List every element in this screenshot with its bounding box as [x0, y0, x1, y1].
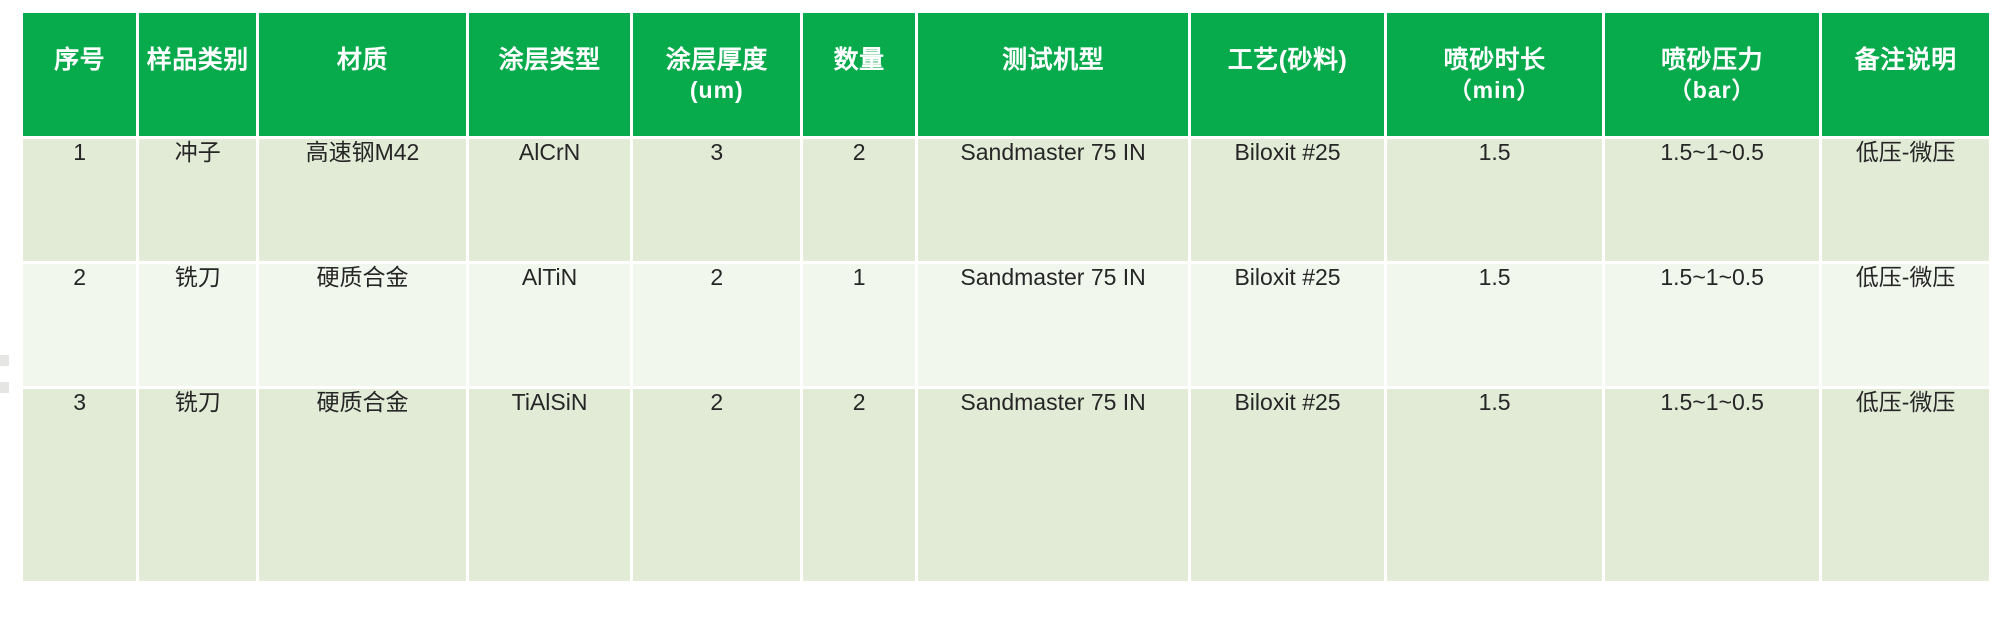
- column-header-blast-pressure[interactable]: 喷砂压力 （bar）: [1605, 13, 1819, 136]
- cell-coating-type: AlTiN: [469, 264, 631, 386]
- column-header-material-label: 材质: [337, 46, 388, 74]
- cell-coating-thick: 2: [633, 389, 800, 581]
- cell-remark: 低压-微压: [1822, 264, 1989, 386]
- column-header-blast-pressure-label: 喷砂压力: [1661, 46, 1763, 74]
- column-header-remark-label: 备注说明: [1855, 46, 1957, 74]
- cell-process-media: Biloxit #25: [1191, 139, 1384, 261]
- cell-blast-time: 1.5: [1387, 389, 1602, 581]
- column-header-blast-time-label: 喷砂时长: [1444, 46, 1546, 74]
- cell-coating-thick: 3: [633, 139, 800, 261]
- cell-quantity: 2: [803, 389, 915, 581]
- cell-test-machine: Sandmaster 75 IN: [918, 139, 1188, 261]
- column-header-sample-type[interactable]: 样品类别: [139, 13, 256, 136]
- column-header-seq-label: 序号: [54, 46, 105, 74]
- edge-artifact-mark-2: [0, 382, 9, 393]
- column-header-sample-type-label: 样品类别: [147, 46, 249, 74]
- cell-test-machine: Sandmaster 75 IN: [918, 389, 1188, 581]
- column-header-blast-pressure-unit: （bar）: [1605, 76, 1819, 105]
- cell-blast-pressure: 1.5~1~0.5: [1605, 139, 1819, 261]
- cell-seq: 3: [23, 389, 136, 581]
- column-header-coating-thickness[interactable]: 涂层厚度 (um): [633, 13, 800, 136]
- column-header-process-media[interactable]: 工艺(砂料): [1191, 13, 1384, 136]
- column-header-blast-time[interactable]: 喷砂时长 （min）: [1387, 13, 1602, 136]
- cell-coating-type: AlCrN: [469, 139, 631, 261]
- column-header-coating-thickness-label: 涂层厚度: [666, 46, 768, 74]
- cell-blast-time: 1.5: [1387, 264, 1602, 386]
- cell-coating-thick: 2: [633, 264, 800, 386]
- cell-process-media: Biloxit #25: [1191, 389, 1384, 581]
- cell-blast-pressure: 1.5~1~0.5: [1605, 389, 1819, 581]
- cell-material: 高速钢M42: [259, 139, 466, 261]
- column-header-material[interactable]: 材质: [259, 13, 466, 136]
- cell-blast-pressure: 1.5~1~0.5: [1605, 264, 1819, 386]
- column-header-coating-type[interactable]: 涂层类型: [469, 13, 631, 136]
- cell-process-media: Biloxit #25: [1191, 264, 1384, 386]
- cell-quantity: 1: [803, 264, 915, 386]
- cell-remark: 低压-微压: [1822, 389, 1989, 581]
- cell-coating-type: TiAlSiN: [469, 389, 631, 581]
- sandblasting-spec-table: 序号 样品类别 材质 涂层类型 涂层厚度 (um) 数量: [20, 10, 1992, 584]
- column-header-coating-thickness-unit: (um): [633, 76, 800, 105]
- column-header-quantity[interactable]: 数量: [803, 13, 915, 136]
- column-header-process-media-label: 工艺(砂料): [1228, 46, 1348, 74]
- column-header-coating-type-label: 涂层类型: [499, 46, 601, 74]
- cell-seq: 1: [23, 139, 136, 261]
- cell-remark: 低压-微压: [1822, 139, 1989, 261]
- column-header-seq[interactable]: 序号: [23, 13, 136, 136]
- column-header-blast-time-unit: （min）: [1387, 76, 1602, 105]
- column-header-remark[interactable]: 备注说明: [1822, 13, 1989, 136]
- cell-material: 硬质合金: [259, 389, 466, 581]
- cell-seq: 2: [23, 264, 136, 386]
- table-row[interactable]: 1 冲子 高速钢M42 AlCrN 3 2 Sandmaster 75 IN B…: [23, 139, 1989, 261]
- edge-artifact-mark-1: [0, 355, 9, 366]
- cell-blast-time: 1.5: [1387, 139, 1602, 261]
- cell-test-machine: Sandmaster 75 IN: [918, 264, 1188, 386]
- column-header-quantity-label: 数量: [834, 46, 885, 74]
- table-header: 序号 样品类别 材质 涂层类型 涂层厚度 (um) 数量: [23, 13, 1989, 136]
- cell-material: 硬质合金: [259, 264, 466, 386]
- cell-quantity: 2: [803, 139, 915, 261]
- table-header-row: 序号 样品类别 材质 涂层类型 涂层厚度 (um) 数量: [23, 13, 1989, 136]
- table-body: 1 冲子 高速钢M42 AlCrN 3 2 Sandmaster 75 IN B…: [23, 139, 1989, 581]
- table-row[interactable]: 3 铣刀 硬质合金 TiAlSiN 2 2 Sandmaster 75 IN B…: [23, 389, 1989, 581]
- table-row[interactable]: 2 铣刀 硬质合金 AlTiN 2 1 Sandmaster 75 IN Bil…: [23, 264, 1989, 386]
- column-header-test-machine-label: 测试机型: [1002, 46, 1104, 74]
- cell-sample-type: 铣刀: [139, 389, 256, 581]
- page-root: 序号 样品类别 材质 涂层类型 涂层厚度 (um) 数量: [0, 0, 2015, 637]
- cell-sample-type: 铣刀: [139, 264, 256, 386]
- column-header-test-machine[interactable]: 测试机型: [918, 13, 1188, 136]
- cell-sample-type: 冲子: [139, 139, 256, 261]
